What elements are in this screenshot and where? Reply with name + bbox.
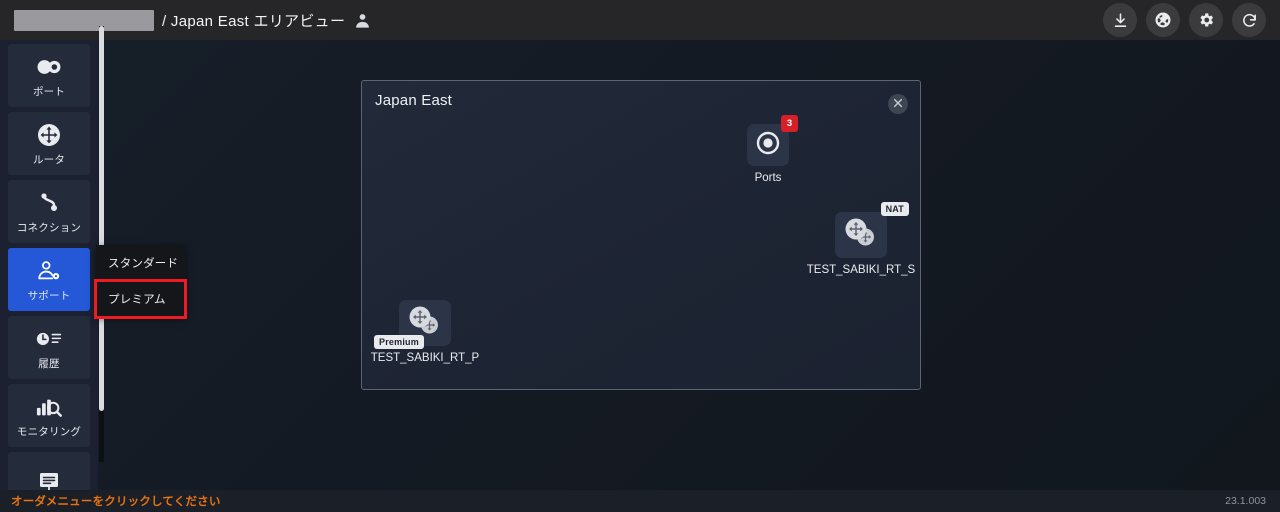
node-rt-s-nat-tag: NAT: [881, 202, 909, 216]
status-bar: オーダメニューをクリックしてください 23.1.003: [0, 490, 1280, 512]
node-ports-badge: 3: [781, 115, 798, 132]
sidebar-item-history[interactable]: 履歴: [8, 316, 90, 379]
sidebar-item-support[interactable]: サポート: [8, 248, 90, 311]
support-icon: [36, 257, 62, 285]
topology-link-layer: [363, 82, 663, 232]
node-ports-box[interactable]: 3: [747, 124, 789, 166]
node-test-sabiki-rt-p[interactable]: Premium TEST_SABIKI_RT_P: [399, 300, 451, 346]
sidebar-item-label: ポート: [33, 84, 65, 99]
download-icon: [1112, 12, 1129, 29]
gear-icon: [1197, 11, 1215, 29]
sidebar-item-monitoring[interactable]: モニタリング: [8, 384, 90, 447]
node-rt-p-box[interactable]: Premium: [399, 300, 451, 346]
sidebar-scrollbar-thumb[interactable]: [99, 26, 104, 411]
connection-icon: [37, 189, 61, 217]
sidebar-item-port[interactable]: ポート: [8, 44, 90, 107]
router-double-icon: [841, 216, 881, 255]
report-icon: [37, 468, 61, 492]
node-test-sabiki-rt-s[interactable]: NAT TEST_SABIKI_RT_S: [835, 212, 887, 258]
top-bar-actions: [1103, 0, 1266, 40]
globe-button[interactable]: [1146, 3, 1180, 37]
download-button[interactable]: [1103, 3, 1137, 37]
router-icon: [37, 121, 61, 149]
globe-icon: [1154, 11, 1172, 29]
support-dropdown-menu: スタンダード プレミアム: [96, 245, 185, 317]
refresh-button[interactable]: [1232, 3, 1266, 37]
port-icon: [36, 53, 62, 81]
sidebar-item-connection[interactable]: コネクション: [8, 180, 90, 243]
area-view-panel: Japan East: [361, 80, 921, 390]
node-rt-s-box[interactable]: NAT: [835, 212, 887, 258]
version-label: 23.1.003: [1225, 495, 1266, 507]
status-message: オーダメニューをクリックしてください: [11, 493, 221, 509]
node-ports-label: Ports: [755, 172, 782, 184]
settings-button[interactable]: [1189, 3, 1223, 37]
user-avatar-icon: [354, 12, 371, 29]
sidebar: ポート ルータ: [0, 40, 98, 492]
node-rt-p-label: TEST_SABIKI_RT_P: [371, 352, 479, 364]
sidebar-item-label: サポート: [28, 288, 71, 303]
menu-item-standard[interactable]: スタンダード: [96, 245, 185, 281]
sidebar-item-label: ルータ: [33, 152, 65, 167]
node-rt-p-premium-tag: Premium: [374, 335, 424, 349]
top-bar: / Japan East エリアビュー: [0, 0, 1280, 40]
port-circle-icon: [756, 131, 780, 160]
sidebar-item-label: コネクション: [17, 220, 81, 235]
monitoring-icon: [36, 393, 62, 421]
history-icon: [36, 325, 62, 353]
node-rt-s-label: TEST_SABIKI_RT_S: [807, 264, 915, 276]
sidebar-item-report[interactable]: [8, 452, 90, 492]
breadcrumb: / Japan East エリアビュー: [162, 10, 345, 31]
redacted-tenant-name: [14, 10, 154, 31]
sidebar-item-label: モニタリング: [17, 424, 81, 439]
topology-canvas: 3 Ports: [363, 82, 919, 388]
sidebar-item-router[interactable]: ルータ: [8, 112, 90, 175]
refresh-icon: [1241, 12, 1258, 29]
menu-item-premium[interactable]: プレミアム: [96, 281, 185, 317]
node-ports[interactable]: 3 Ports: [747, 124, 789, 166]
sidebar-item-label: 履歴: [38, 356, 59, 371]
app-root: / Japan East エリアビュー: [0, 0, 1280, 512]
